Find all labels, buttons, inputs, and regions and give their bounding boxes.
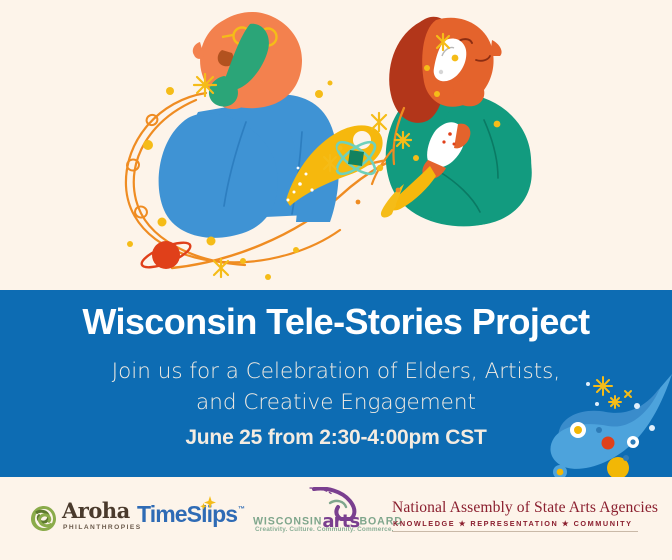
event-banner: Wisconsin Tele-Stories Project Join us f… (0, 290, 672, 477)
illustration-artwork (0, 0, 672, 290)
subtitle-line-2: and Creative Engagement (0, 388, 672, 419)
logo-wisconsin-arts-board: WISCONSINartsBOARD Creativity. Culture. … (253, 487, 381, 539)
timeslips-trademark: ™ (238, 506, 245, 513)
event-subtitle: Join us for a Celebration of Elders, Art… (0, 357, 672, 418)
timeslips-wordmark: TimeSlips (137, 503, 237, 526)
green-swirl-icon (30, 505, 58, 532)
subtitle-line-1: Join us for a Celebration of Elders, Art… (0, 357, 672, 388)
page-title: Wisconsin Tele-Stories Project (0, 303, 672, 341)
poster: Wisconsin Tele-Stories Project Join us f… (0, 0, 672, 560)
nasaa-subtitle: KNOWLEDGE ★ REPRESENTATION ★ COMMUNITY (393, 519, 633, 528)
nasaa-title: National Assembly of State Arts Agencies (392, 499, 658, 517)
logo-nasaa: National Assembly of State Arts Agencies… (392, 499, 644, 535)
logo-aroha-philanthropies: Aroha PHILANTHROPIES (30, 499, 130, 537)
aroha-wordmark: Aroha (62, 500, 130, 521)
nasaa-divider (392, 531, 638, 532)
aroha-subtitle: PHILANTHROPIES (63, 524, 142, 531)
sponsor-logo-strip: Aroha PHILANTHROPIES TimeSlips ™ WISCONS… (0, 477, 672, 560)
logo-timeslips: TimeSlips ™ (137, 503, 249, 535)
yellow-sparkle-icon (200, 496, 220, 512)
event-datetime: June 25 from 2:30-4:00pm CST (0, 426, 672, 450)
header-illustration (0, 0, 672, 290)
wab-tagline: Creativity. Culture. Community. Commerce… (255, 526, 394, 533)
